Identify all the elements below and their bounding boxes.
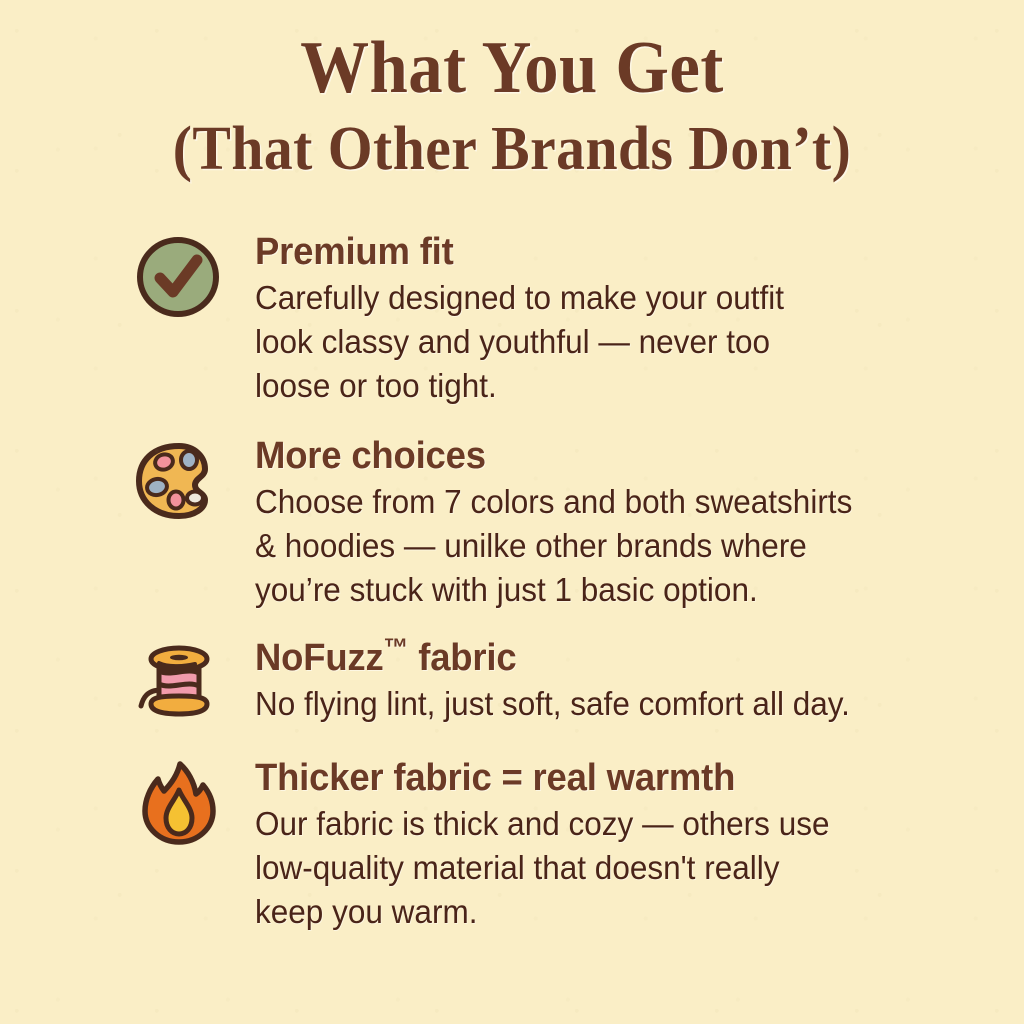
feature-title: Thicker fabric = real warmth <box>255 756 833 800</box>
description-line: loose or too tight. <box>255 364 784 408</box>
feature-description: Our fabric is thick and cozy — others us… <box>255 802 830 934</box>
title-line-secondary: (That Other Brands Don’t) <box>36 112 988 186</box>
description-line: look classy and youthful — never too <box>255 320 784 364</box>
paint-palette-icon <box>133 432 225 528</box>
description-line: Our fabric is thick and cozy — others us… <box>255 802 830 846</box>
trademark-symbol: ™ <box>384 632 409 662</box>
description-line: Choose from 7 colors and both sweatshirt… <box>255 480 852 524</box>
feature-text-premium-fit: Premium fit Carefully designed to make y… <box>225 228 809 408</box>
description-line: & hoodies — unilke other brands where <box>255 524 852 568</box>
description-line: keep you warm. <box>255 890 830 934</box>
description-line: you’re stuck with just 1 basic option. <box>255 568 852 612</box>
flame-icon <box>133 754 225 850</box>
feature-description: No flying lint, just soft, safe comfort … <box>255 682 850 726</box>
title-line-primary: What You Get <box>36 26 988 110</box>
page-title: What You Get (That Other Brands Don’t) <box>0 0 1024 186</box>
description-line: low-quality material that doesn't really <box>255 846 830 890</box>
feature-item-more-choices: More choices Choose from 7 colors and bo… <box>133 432 964 612</box>
feature-text-nofuzz-fabric: NoFuzz™ fabric No flying lint, just soft… <box>225 634 878 726</box>
feature-description: Carefully designed to make your outfit l… <box>255 276 784 408</box>
thread-spool-icon <box>133 634 225 730</box>
promo-card: What You Get (That Other Brands Don’t) P… <box>0 0 1024 1024</box>
feature-text-more-choices: More choices Choose from 7 colors and bo… <box>225 432 880 612</box>
feature-item-thicker-fabric: Thicker fabric = real warmth Our fabric … <box>133 754 964 934</box>
feature-item-premium-fit: Premium fit Carefully designed to make y… <box>133 228 964 408</box>
feature-list: Premium fit Carefully designed to make y… <box>0 228 1024 934</box>
feature-title-prefix: NoFuzz <box>255 637 384 679</box>
feature-title: Premium fit <box>255 230 787 274</box>
feature-title: NoFuzz™ fabric <box>255 636 853 680</box>
feature-title-suffix: fabric <box>408 637 516 679</box>
description-line: No flying lint, just soft, safe comfort … <box>255 682 850 726</box>
feature-description: Choose from 7 colors and both sweatshirt… <box>255 480 852 612</box>
check-circle-icon <box>133 228 225 324</box>
feature-title: More choices <box>255 434 855 478</box>
feature-item-nofuzz-fabric: NoFuzz™ fabric No flying lint, just soft… <box>133 634 964 730</box>
feature-text-thicker-fabric: Thicker fabric = real warmth Our fabric … <box>225 754 857 934</box>
description-line: Carefully designed to make your outfit <box>255 276 784 320</box>
